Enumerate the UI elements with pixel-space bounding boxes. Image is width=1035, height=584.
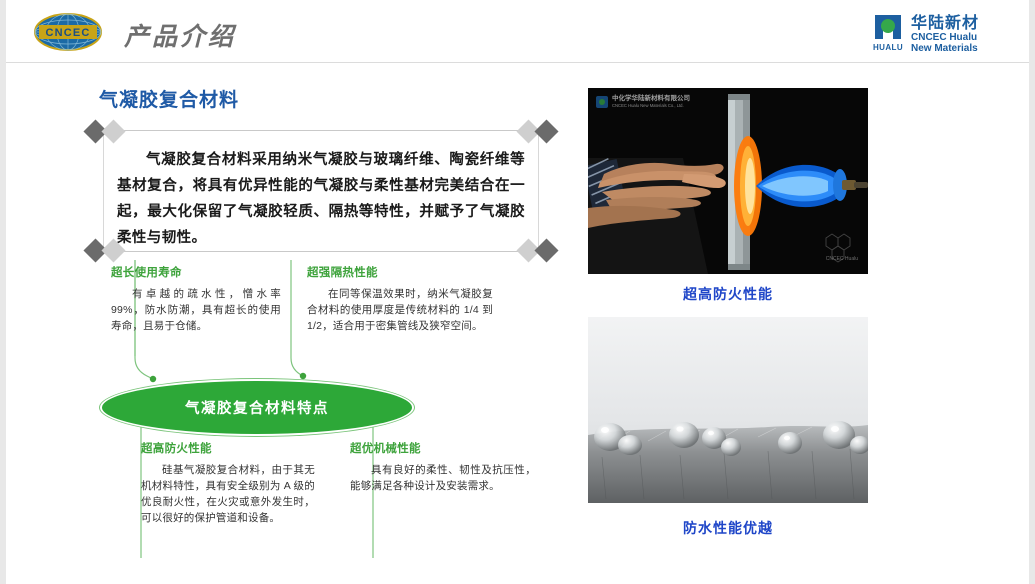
intro-box-right-rule xyxy=(538,131,539,253)
flame-test-photo-caption: 超高防火性能 xyxy=(588,284,868,304)
feature-card-4-title: 超优机械性能 xyxy=(350,440,536,456)
feature-card-3-title: 超高防火性能 xyxy=(141,440,315,456)
page-title: 产品介绍 xyxy=(124,17,236,53)
slide-canvas: CNCEC 产品介绍 HUALU 华陆新材 CNCEC Hualu New Ma… xyxy=(0,0,1035,584)
diamond-ornament-top-left-light xyxy=(101,119,125,143)
water-droplets-photo xyxy=(588,317,868,503)
mindmap-center-node: 气凝胶复合材料特点 xyxy=(100,379,414,436)
feature-card-4: 超优机械性能 具有良好的柔性、韧性及抗压性，能够满足各种设计及安装需求。 xyxy=(350,440,536,494)
photo-corner-watermark: CNCEC Hualu xyxy=(826,256,858,262)
svg-text:CNCEC Hualu: CNCEC Hualu xyxy=(911,32,977,43)
feature-card-2: 超强隔热性能 在同等保温效果时，纳米气凝胶复合材料的使用厚度是传统材料的 1/4… xyxy=(307,264,493,334)
feature-card-4-body: 具有良好的柔性、韧性及抗压性，能够满足各种设计及安装需求。 xyxy=(350,462,536,494)
flame-test-photo: 中化学华陆新材料有限公司 CNCEC Hualu New Materials C… xyxy=(588,88,868,274)
watermark-logo-icon xyxy=(596,96,608,108)
hualu-brand-logo: HUALU 华陆新材 CNCEC Hualu New Materials xyxy=(871,9,1011,53)
slide-right-edge xyxy=(1029,0,1035,584)
slide-left-edge xyxy=(0,0,6,584)
svg-text:HUALU: HUALU xyxy=(873,43,903,52)
feature-card-3-body: 硅基气凝胶复合材料，由于其无机材料特性，具有安全级别为 A 级的优良耐火性，在火… xyxy=(141,462,315,526)
header-divider xyxy=(6,62,1029,63)
feature-card-1-body: 有卓越的疏水性，憎水率99%，防水防潮，具有超长的使用寿命，且易于仓储。 xyxy=(111,286,281,334)
intro-box-left-rule xyxy=(103,131,104,253)
section-title: 气凝胶复合材料 xyxy=(99,85,239,112)
intro-textbox: 气凝胶复合材料采用纳米气凝胶与玻璃纤维、陶瓷纤维等基材复合，将具有优异性能的气凝… xyxy=(95,130,547,252)
feature-card-1: 超长使用寿命 有卓越的疏水性，憎水率99%，防水防潮，具有超长的使用寿命，且易于… xyxy=(111,264,281,334)
feature-card-2-body: 在同等保温效果时，纳米气凝胶复合材料的使用厚度是传统材料的 1/4 到 1/2，… xyxy=(307,286,493,334)
watermark-cn-text: 中化学华陆新材料有限公司 xyxy=(612,95,690,103)
feature-card-3: 超高防火性能 硅基气凝胶复合材料，由于其无机材料特性，具有安全级别为 A 级的优… xyxy=(141,440,315,526)
svg-text:华陆新材: 华陆新材 xyxy=(911,13,979,32)
intro-paragraph: 气凝胶复合材料采用纳米气凝胶与玻璃纤维、陶瓷纤维等基材复合，将具有优异性能的气凝… xyxy=(117,147,525,251)
photo-watermark: 中化学华陆新材料有限公司 CNCEC Hualu New Materials C… xyxy=(596,95,690,109)
svg-text:New Materials: New Materials xyxy=(911,43,978,53)
svg-text:CNCEC: CNCEC xyxy=(45,27,90,39)
watermark-en-text: CNCEC Hualu New Materials Co., Ltd. xyxy=(612,103,690,109)
slide-header: CNCEC 产品介绍 HUALU 华陆新材 CNCEC Hualu New Ma… xyxy=(6,0,1029,62)
water-droplets-photo-caption: 防水性能优越 xyxy=(588,518,868,538)
cncec-globe-logo: CNCEC xyxy=(32,12,104,52)
feature-card-1-title: 超长使用寿命 xyxy=(111,264,281,280)
feature-card-2-title: 超强隔热性能 xyxy=(307,264,493,280)
mindmap-center-label: 气凝胶复合材料特点 xyxy=(185,397,329,418)
